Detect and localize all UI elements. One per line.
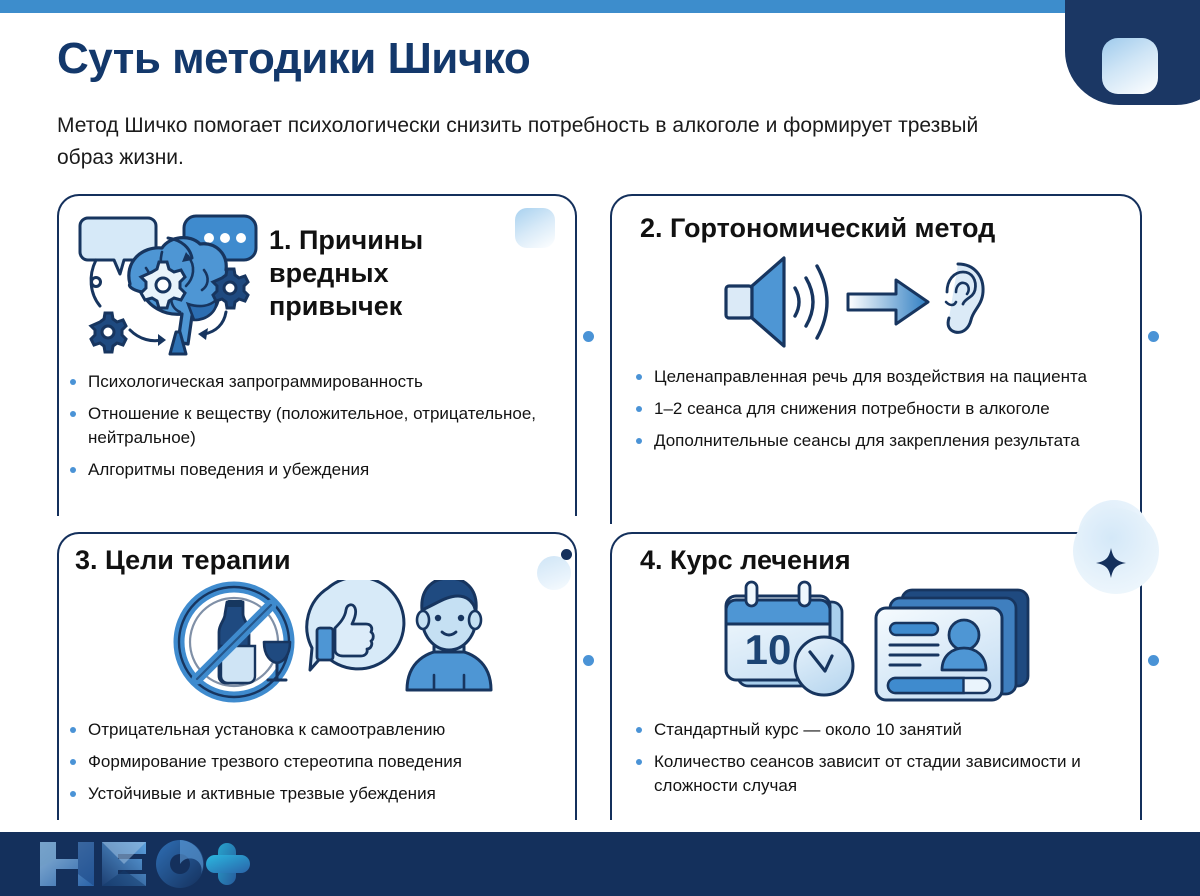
card-bullets: Отрицательная установка к самоотравлению… [70,718,570,814]
card-title: 2. Гортономический метод [640,212,1120,245]
list-item: Стандартный курс — около 10 занятий [636,718,1126,742]
list-item: Количество сеансов зависит от стадии зав… [636,750,1126,798]
infographic-page: Суть методики Шичко Метод Шичко помогает… [0,0,1200,896]
page-title: Суть методики Шичко [57,34,530,84]
list-item: Целенаправленная речь для воздействия на… [636,365,1126,389]
list-item: 1–2 сеанса для снижения потребности в ал… [636,397,1126,421]
calendar-day-number: 10 [745,626,792,673]
gradient-square-decoration [515,208,555,248]
card-edge-dot [1148,655,1159,666]
card-title: 3. Цели терапии [75,544,475,577]
list-item: Устойчивые и активные трезвые убеждения [70,782,570,806]
card-edge-dot [1148,331,1159,342]
list-item: Психологическая запрограммированность [70,370,560,394]
gradient-square-decoration [1102,38,1158,94]
card-bullets: Целенаправленная речь для воздействия на… [636,365,1126,461]
list-item: Дополнительные сеансы для закрепления ре… [636,429,1126,453]
speaker-arrow-ear-icon [700,252,1000,357]
list-item: Алгоритмы поведения и убеждения [70,458,560,482]
no-alcohol-thumbsup-person-icon [172,580,522,710]
top-accent-bar [0,0,1105,13]
sparkle-star-decoration [1096,548,1126,578]
card-edge-dot [583,331,594,342]
navy-dot-decoration [561,549,572,560]
calendar-clock-cards-icon: 10 [706,578,1056,713]
light-circle-decoration [537,556,571,590]
list-item: Формирование трезвого стереотипа поведен… [70,750,570,774]
card-bullets: Стандартный курс — около 10 занятий Коли… [636,718,1126,806]
card-bullets: Психологическая запрограммированность От… [70,370,560,490]
card-edge-dot [583,655,594,666]
list-item: Отношение к веществу (положительное, отр… [70,402,560,450]
neo-plus-logo: НЕО+ [34,838,274,895]
card-title: 4. Курс лечения [640,544,1040,577]
brain-gears-speech-icon [76,212,266,367]
page-subtitle: Метод Шичко помогает психологически сниз… [57,110,1037,174]
list-item: Отрицательная установка к самоотравлению [70,718,570,742]
footer-bar: НЕО+ [0,832,1200,896]
card-title: 1. Причины вредных привычек [269,224,509,323]
